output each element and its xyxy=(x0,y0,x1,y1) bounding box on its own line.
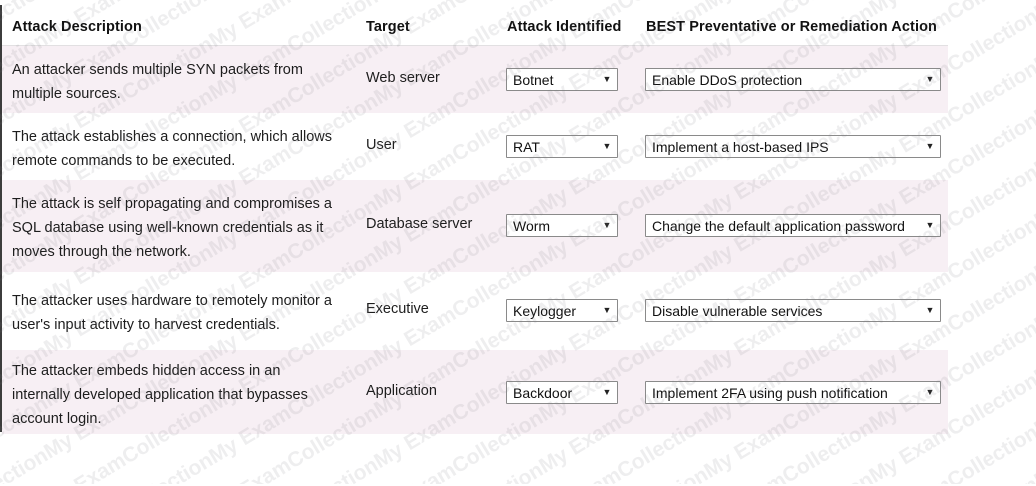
table-header-row: Attack Description Target Attack Identif… xyxy=(0,0,1036,46)
chevron-down-icon: ▼ xyxy=(599,75,617,84)
remediation-action-select[interactable]: Implement 2FA using push notification ▼ xyxy=(645,381,941,404)
description-line: multiple sources. xyxy=(12,82,352,106)
chevron-down-icon: ▼ xyxy=(922,75,940,84)
remediation-action-value: Implement a host-based IPS xyxy=(646,139,922,155)
description-line: account login. xyxy=(12,407,352,431)
chevron-down-icon: ▼ xyxy=(599,388,617,397)
target-cell: Database server xyxy=(366,216,472,232)
attack-identified-select[interactable]: Worm ▼ xyxy=(506,214,618,237)
chevron-down-icon: ▼ xyxy=(922,388,940,397)
target-cell: Application xyxy=(366,383,437,399)
chevron-down-icon: ▼ xyxy=(599,221,617,230)
description-line: The attacker embeds hidden access in an xyxy=(12,359,352,383)
table-row: An attacker sends multiple SYN packets f… xyxy=(0,46,1036,113)
attack-identified-select[interactable]: Backdoor ▼ xyxy=(506,381,618,404)
chevron-down-icon: ▼ xyxy=(922,142,940,151)
remediation-action-value: Change the default application password xyxy=(646,218,922,234)
attack-description-cell: The attack is self propagating and compr… xyxy=(12,192,352,264)
remediation-action-value: Implement 2FA using push notification xyxy=(646,385,922,401)
attack-identified-value: Keylogger xyxy=(507,303,599,319)
attack-identified-select[interactable]: Keylogger ▼ xyxy=(506,299,618,322)
attack-description-cell: The attack establishes a connection, whi… xyxy=(12,125,352,173)
attack-identified-value: RAT xyxy=(507,139,599,155)
remediation-action-value: Disable vulnerable services xyxy=(646,303,922,319)
table-row: The attack is self propagating and compr… xyxy=(0,180,1036,272)
column-header-best-action: BEST Preventative or Remediation Action xyxy=(646,19,937,35)
chevron-down-icon: ▼ xyxy=(599,306,617,315)
table-bottom-spacer xyxy=(0,434,1036,486)
target-cell: User xyxy=(366,137,397,153)
remediation-action-value: Enable DDoS protection xyxy=(646,72,922,88)
description-line: remote commands to be executed. xyxy=(12,149,352,173)
remediation-action-select[interactable]: Enable DDoS protection ▼ xyxy=(645,68,941,91)
column-header-attack-identified: Attack Identified xyxy=(507,19,622,35)
description-line: moves through the network. xyxy=(12,240,352,264)
remediation-action-select[interactable]: Change the default application password … xyxy=(645,214,941,237)
description-line: SQL database using well-known credential… xyxy=(12,216,352,240)
description-line: The attack establishes a connection, whi… xyxy=(12,125,352,149)
column-header-attack-description: Attack Description xyxy=(12,19,142,35)
remediation-action-select[interactable]: Disable vulnerable services ▼ xyxy=(645,299,941,322)
attack-identified-select[interactable]: Botnet ▼ xyxy=(506,68,618,91)
attack-description-cell: An attacker sends multiple SYN packets f… xyxy=(12,58,352,106)
table-row: The attacker embeds hidden access in an … xyxy=(0,350,1036,434)
table-row: The attacker uses hardware to remotely m… xyxy=(0,272,1036,350)
description-line: The attacker uses hardware to remotely m… xyxy=(12,289,352,313)
description-line: internally developed application that by… xyxy=(12,383,352,407)
attack-identified-select[interactable]: RAT ▼ xyxy=(506,135,618,158)
remediation-action-select[interactable]: Implement a host-based IPS ▼ xyxy=(645,135,941,158)
target-cell: Web server xyxy=(366,70,440,86)
attack-description-cell: The attacker uses hardware to remotely m… xyxy=(12,289,352,337)
chevron-down-icon: ▼ xyxy=(922,221,940,230)
table-left-border xyxy=(0,5,2,432)
table-row: The attack establishes a connection, whi… xyxy=(0,113,1036,180)
chevron-down-icon: ▼ xyxy=(922,306,940,315)
attack-description-cell: The attacker embeds hidden access in an … xyxy=(12,359,352,431)
chevron-down-icon: ▼ xyxy=(599,142,617,151)
attack-matching-table: Attack Description Target Attack Identif… xyxy=(0,0,1036,486)
attack-identified-value: Botnet xyxy=(507,72,599,88)
attack-identified-value: Worm xyxy=(507,218,599,234)
description-line: The attack is self propagating and compr… xyxy=(12,192,352,216)
column-header-target: Target xyxy=(366,19,410,35)
description-line: An attacker sends multiple SYN packets f… xyxy=(12,58,352,82)
attack-identified-value: Backdoor xyxy=(507,385,599,401)
target-cell: Executive xyxy=(366,301,429,317)
description-line: user's input activity to harvest credent… xyxy=(12,313,352,337)
